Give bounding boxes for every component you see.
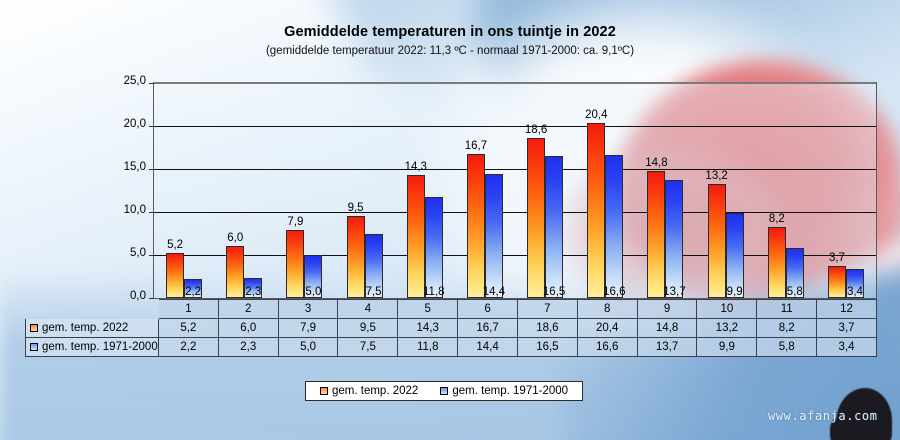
bar-value-label: 16,5 <box>543 286 565 298</box>
bar-group: 5,22,2 <box>154 83 214 298</box>
table-column-header: 5 <box>398 300 458 319</box>
table-cell: 7,9 <box>278 319 338 338</box>
bar-2022[interactable]: 3,7 <box>828 266 846 298</box>
table-column-header: 2 <box>218 300 278 319</box>
table-cell: 14,3 <box>398 319 458 338</box>
bar-groups: 5,22,26,02,37,95,09,57,514,311,816,714,4… <box>154 83 876 298</box>
bar-group: 16,714,4 <box>455 83 515 298</box>
table-cell: 16,5 <box>517 338 577 357</box>
table-cell: 16,7 <box>458 319 518 338</box>
bar-2022[interactable]: 7,9 <box>286 230 304 298</box>
table-cell: 5,8 <box>757 338 817 357</box>
bar-group: 14,813,7 <box>635 83 695 298</box>
table-cell: 18,6 <box>517 319 577 338</box>
table-column-header: 10 <box>697 300 757 319</box>
table-column-header: 7 <box>517 300 577 319</box>
legend-swatch-2022-icon <box>320 387 328 395</box>
page-title: Gemiddelde temperaturen in ons tuintje i… <box>0 24 900 40</box>
chart-subtitle: (gemiddelde temperatuur 2022: 11,3 ºC - … <box>0 45 900 57</box>
bar-value-label: 3,4 <box>847 286 863 298</box>
table-cell: 20,4 <box>577 319 637 338</box>
bar-group: 20,416,6 <box>575 83 635 298</box>
legend-item[interactable]: gem. temp. 2022 <box>320 385 418 397</box>
bar-normal[interactable]: 16,5 <box>545 156 563 298</box>
table-column-header: 1 <box>159 300 219 319</box>
bar-normal[interactable]: 9,9 <box>726 213 744 298</box>
table-cell: 13,7 <box>637 338 697 357</box>
table-cell: 5,2 <box>159 319 219 338</box>
bar-value-label: 6,0 <box>227 232 243 244</box>
bar-normal[interactable]: 3,4 <box>846 269 864 298</box>
table-row-header-label: gem. temp. 1971-2000 <box>42 341 158 353</box>
bar-value-label: 9,5 <box>348 202 364 214</box>
table-row-header-label: gem. temp. 2022 <box>42 322 128 334</box>
bar-normal[interactable]: 14,4 <box>485 174 503 298</box>
bar-group: 8,25,8 <box>756 83 816 298</box>
bar-normal[interactable]: 16,6 <box>605 155 623 298</box>
y-axis-tick-label: 20,0 <box>90 118 146 130</box>
table-row: gem. temp. 20225,26,07,99,514,316,718,62… <box>26 319 877 338</box>
bar-value-label: 14,8 <box>645 157 667 169</box>
bar-value-label: 18,6 <box>525 124 547 136</box>
table-cell: 16,6 <box>577 338 637 357</box>
bar-value-label: 9,9 <box>727 286 743 298</box>
legend-item[interactable]: gem. temp. 1971-2000 <box>440 385 568 397</box>
legend-item-label: gem. temp. 2022 <box>332 385 418 397</box>
table-column-header: 6 <box>458 300 518 319</box>
table-cell: 8,2 <box>757 319 817 338</box>
bar-value-label: 13,7 <box>663 286 685 298</box>
table-row-header: gem. temp. 1971-2000 <box>26 338 159 357</box>
y-axis-tick-label: 25,0 <box>90 75 146 87</box>
table-cell: 9,5 <box>338 319 398 338</box>
table-column-header: 12 <box>817 300 877 319</box>
table-cell: 11,8 <box>398 338 458 357</box>
chart-legend: gem. temp. 2022gem. temp. 1971-2000 <box>305 381 583 401</box>
y-axis-tick-label: 5,0 <box>90 247 146 259</box>
y-axis-tick-label: 15,0 <box>90 161 146 173</box>
bar-value-label: 7,9 <box>287 216 303 228</box>
bar-value-label: 2,3 <box>245 286 261 298</box>
bar-normal[interactable]: 13,7 <box>665 180 683 298</box>
table-column-header: 3 <box>278 300 338 319</box>
table-header-row: 123456789101112 <box>26 300 877 319</box>
table-cell: 2,3 <box>218 338 278 357</box>
bar-value-label: 5,0 <box>305 286 321 298</box>
bar-value-label: 7,5 <box>366 286 382 298</box>
series-swatch-normal-icon <box>30 343 38 351</box>
bar-normal[interactable]: 5,8 <box>786 248 804 298</box>
bar-2022[interactable]: 18,6 <box>527 138 545 298</box>
bar-value-label: 16,7 <box>465 140 487 152</box>
y-axis-tick-label: 10,0 <box>90 204 146 216</box>
bar-2022[interactable]: 20,4 <box>587 123 605 298</box>
table-cell: 2,2 <box>159 338 219 357</box>
legend-swatch-normal-icon <box>440 387 448 395</box>
table-cell: 14,4 <box>458 338 518 357</box>
table-column-header: 4 <box>338 300 398 319</box>
legend-item-label: gem. temp. 1971-2000 <box>452 385 568 397</box>
bar-value-label: 3,7 <box>829 252 845 264</box>
table-column-header: 9 <box>637 300 697 319</box>
watermark: www.afanja.com <box>768 409 878 423</box>
bar-2022[interactable]: 14,8 <box>647 171 665 298</box>
bar-value-label: 5,8 <box>787 286 803 298</box>
bar-normal[interactable]: 11,8 <box>425 197 443 298</box>
bar-2022[interactable]: 9,5 <box>347 216 365 298</box>
plot-area: 0,05,010,015,020,025,0 5,22,26,02,37,95,… <box>153 82 877 299</box>
bar-group: 14,311,8 <box>395 83 455 298</box>
bar-value-label: 11,8 <box>423 286 445 298</box>
bar-2022[interactable]: 13,2 <box>708 184 726 298</box>
table-cell: 13,2 <box>697 319 757 338</box>
bar-2022[interactable]: 16,7 <box>467 154 485 298</box>
table-column-header: 11 <box>757 300 817 319</box>
bar-value-label: 16,6 <box>603 286 625 298</box>
table-corner-cell <box>26 300 159 319</box>
bar-normal[interactable]: 7,5 <box>365 234 383 299</box>
bar-value-label: 14,4 <box>483 286 505 298</box>
table-cell: 14,8 <box>637 319 697 338</box>
bar-group: 9,57,5 <box>335 83 395 298</box>
bar-group: 6,02,3 <box>214 83 274 298</box>
bar-value-label: 20,4 <box>585 109 607 121</box>
bar-value-label: 5,2 <box>167 239 183 251</box>
bar-2022[interactable]: 5,2 <box>166 253 184 298</box>
bar-normal[interactable]: 2,3 <box>244 278 262 298</box>
data-table: 123456789101112gem. temp. 20225,26,07,99… <box>25 299 877 357</box>
title-block: Gemiddelde temperaturen in ons tuintje i… <box>0 24 900 57</box>
table-column-header: 8 <box>577 300 637 319</box>
bar-value-label: 13,2 <box>705 170 727 182</box>
bar-2022[interactable]: 6,0 <box>226 246 244 298</box>
bar-group: 3,73,4 <box>816 83 876 298</box>
series-swatch-2022-icon <box>30 324 38 332</box>
table-cell: 3,4 <box>817 338 877 357</box>
bar-2022[interactable]: 14,3 <box>407 175 425 298</box>
table-cell: 6,0 <box>218 319 278 338</box>
bar-2022[interactable]: 8,2 <box>768 227 786 298</box>
bar-group: 18,616,5 <box>515 83 575 298</box>
bar-value-label: 14,3 <box>405 161 427 173</box>
bar-normal[interactable]: 2,2 <box>184 279 202 298</box>
bar-group: 7,95,0 <box>274 83 334 298</box>
table-cell: 5,0 <box>278 338 338 357</box>
table-cell: 3,7 <box>817 319 877 338</box>
table-row: gem. temp. 1971-20002,22,35,07,511,814,4… <box>26 338 877 357</box>
table-cell: 9,9 <box>697 338 757 357</box>
bar-value-label: 2,2 <box>185 286 201 298</box>
table-row-header: gem. temp. 2022 <box>26 319 159 338</box>
bar-group: 13,29,9 <box>696 83 756 298</box>
bar-normal[interactable]: 5,0 <box>304 255 322 298</box>
bar-value-label: 8,2 <box>769 213 785 225</box>
table-cell: 7,5 <box>338 338 398 357</box>
